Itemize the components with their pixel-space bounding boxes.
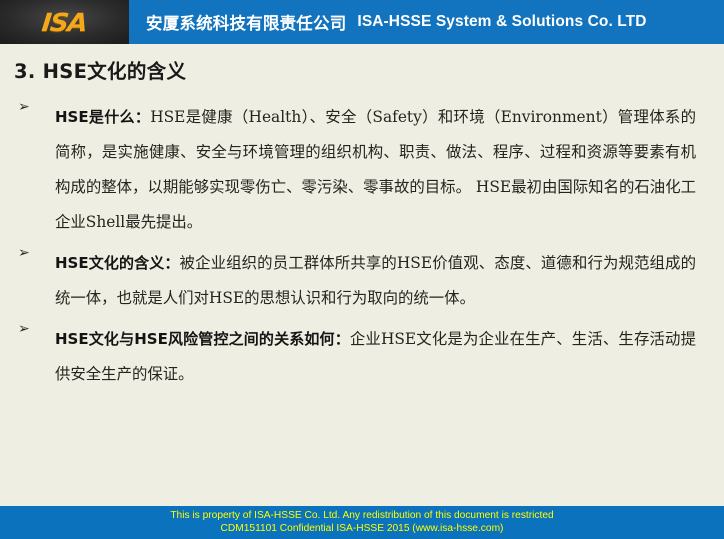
bullet-body-1: HSE是健康（Health）、安全（Safety）和环境（Environment… xyxy=(55,108,696,231)
bullet-item-3: ➢HSE文化与HSE风险管控之间的关系如何：企业HSE文化是为企业在生产、生活、… xyxy=(0,322,724,392)
bullet-lead-3: HSE文化与HSE风险管控之间的关系如何： xyxy=(55,330,350,348)
slide-canvas: ISA 安厦系统科技有限责任公司 ISA-HSSE System & Solut… xyxy=(0,0,724,539)
bullet-paragraph-1: ➢HSE是什么：HSE是健康（Health）、安全（Safety）和环境（Env… xyxy=(17,100,724,240)
company-name-cn: 安厦系统科技有限责任公司 xyxy=(146,10,346,34)
logo-area: ISA xyxy=(0,0,129,44)
bullet-marker-icon: ➢ xyxy=(18,322,32,336)
bullet-paragraph-3: ➢HSE文化与HSE风险管控之间的关系如何：企业HSE文化是为企业在生产、生活、… xyxy=(17,322,724,392)
bullet-lead-1: HSE是什么： xyxy=(55,108,150,126)
bullet-lead-2: HSE文化的含义： xyxy=(55,254,180,272)
footer-copyright-line: This is property of ISA-HSSE Co. Ltd. An… xyxy=(0,509,724,522)
bullet-item-1: ➢HSE是什么：HSE是健康（Health）、安全（Safety）和环境（Env… xyxy=(0,100,724,240)
slide-body: ➢HSE是什么：HSE是健康（Health）、安全（Safety）和环境（Env… xyxy=(0,100,724,500)
bullet-item-2: ➢HSE文化的含义：被企业组织的员工群体所共享的HSE价值观、态度、道德和行为规… xyxy=(0,246,724,316)
company-name-en: ISA-HSSE System & Solutions Co. LTD xyxy=(357,13,646,31)
header-bar: ISA 安厦系统科技有限责任公司 ISA-HSSE System & Solut… xyxy=(0,0,724,44)
bullet-marker-icon: ➢ xyxy=(18,100,32,114)
isa-logo-icon: ISA xyxy=(41,10,88,35)
footer-document-line: CDM151101 Confidential ISA-HSSE 2015 (ww… xyxy=(0,522,724,535)
company-banner: 安厦系统科技有限责任公司 ISA-HSSE System & Solutions… xyxy=(129,0,724,44)
footer-bar: This is property of ISA-HSSE Co. Ltd. An… xyxy=(0,506,724,539)
bullet-paragraph-2: ➢HSE文化的含义：被企业组织的员工群体所共享的HSE价值观、态度、道德和行为规… xyxy=(17,246,724,316)
bullet-marker-icon: ➢ xyxy=(18,246,32,260)
page-title: 3. HSE文化的含义 xyxy=(14,55,186,84)
